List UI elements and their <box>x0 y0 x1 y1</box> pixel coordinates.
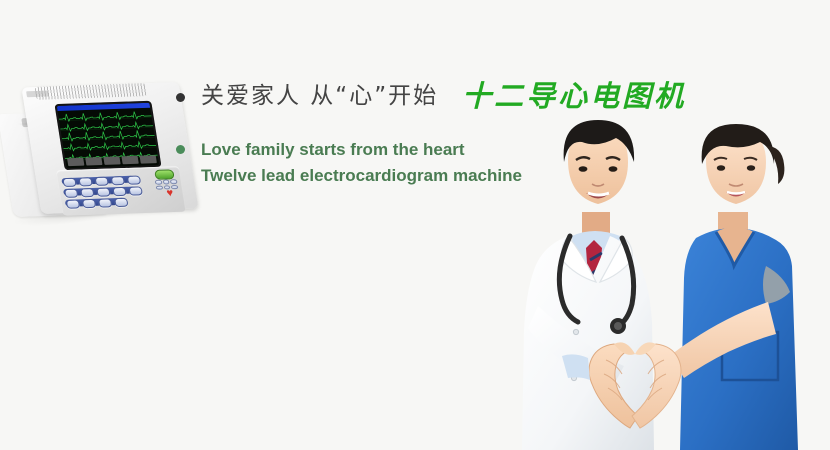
keypad-key <box>82 199 96 208</box>
chinese-slogan: 关爱家人 从“心”开始 <box>201 83 438 111</box>
product-banner: ♥ 关爱家人 从“心”开始 十二导心电图机 Love family starts… <box>0 0 830 450</box>
keypad-key <box>80 188 94 197</box>
softkey <box>85 157 102 165</box>
ecg-keypad: ♥ <box>56 166 186 216</box>
subhead-row: Love family starts from the heart Twelve… <box>176 137 706 190</box>
keypad-key <box>78 177 92 186</box>
keypad-key <box>96 187 110 196</box>
bullet-icon <box>176 145 185 154</box>
keypad-key <box>98 198 112 207</box>
nurse-hair-bun <box>766 146 784 184</box>
subhead-line-1: Love family starts from the heart <box>201 140 465 159</box>
ecg-display-bezel <box>54 101 161 171</box>
dpad-key <box>162 179 169 184</box>
softkey <box>67 158 84 166</box>
keypad-key <box>111 176 125 185</box>
heart-button-icon: ♥ <box>164 189 175 198</box>
keypad-key <box>66 199 80 208</box>
keypad-key <box>64 189 78 198</box>
keypad-key <box>112 187 126 196</box>
softkey <box>103 156 120 164</box>
subhead-line-2: Twelve lead electrocardiogram machine <box>201 166 522 185</box>
keypad-key <box>62 178 76 187</box>
coat-button <box>573 329 578 334</box>
ecg-machine-image: ♥ <box>4 82 194 232</box>
keypad-key <box>94 177 108 186</box>
keypad-key <box>127 175 141 184</box>
ecg-display-screen <box>57 103 159 168</box>
softkey <box>122 156 139 164</box>
dpad-key <box>156 185 163 190</box>
banner-text-block: 关爱家人 从“心”开始 十二导心电图机 Love family starts f… <box>176 82 706 190</box>
product-name-cn: 十二导心电图机 <box>462 82 686 111</box>
headline-row: 关爱家人 从“心”开始 十二导心电图机 <box>176 82 706 111</box>
subhead-text: Love family starts from the heart Twelve… <box>201 137 522 190</box>
keypad-key <box>114 198 128 207</box>
keypad-key <box>128 186 142 195</box>
dpad-key <box>155 180 162 185</box>
bullet-icon <box>176 93 185 102</box>
softkey <box>140 155 157 163</box>
